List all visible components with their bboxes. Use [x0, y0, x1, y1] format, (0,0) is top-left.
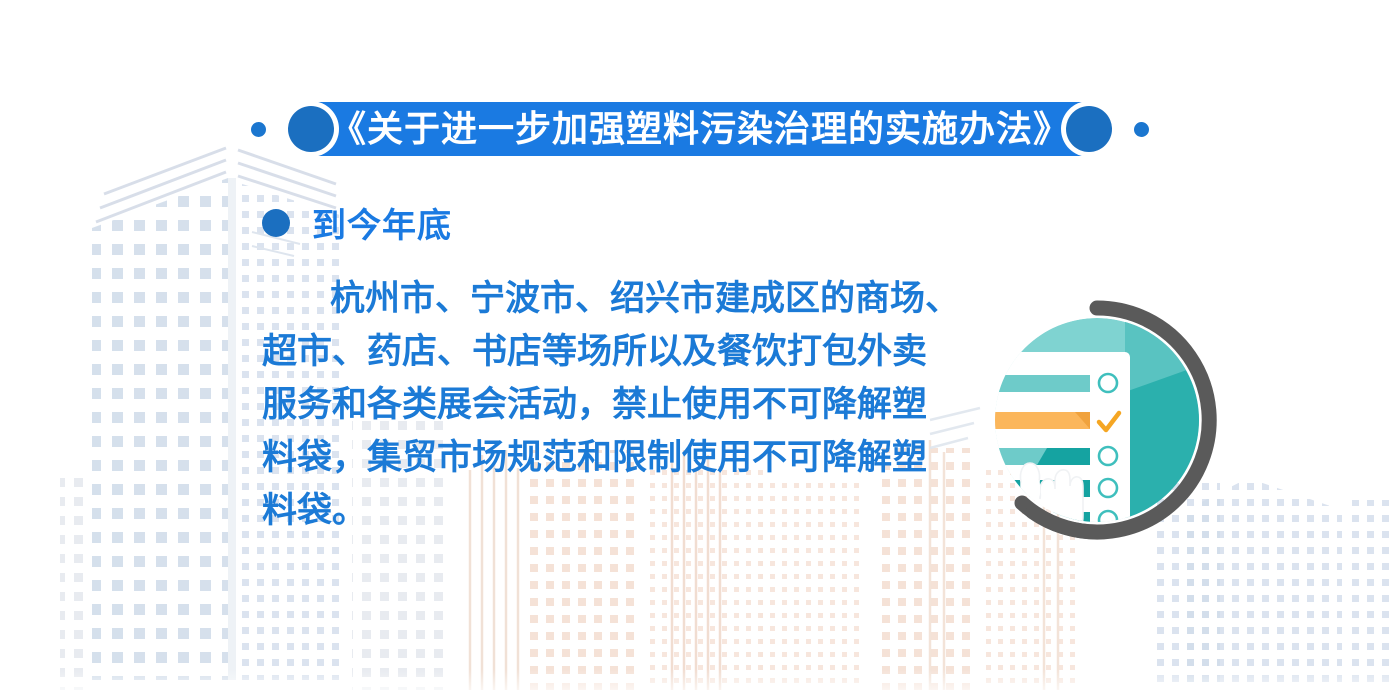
title-banner: 《关于进一步加强塑料污染治理的实施办法》: [314, 102, 1086, 156]
body-line-1: 杭州市、宁波市、绍兴市建成区的商场、: [262, 272, 972, 325]
bullet-dot-icon: [262, 209, 290, 237]
checklist-circle-illustration: [975, 300, 1220, 545]
decor-dot-large-right: [1066, 106, 1112, 152]
poster-canvas: 《关于进一步加强塑料污染治理的实施办法》 到今年底 杭州市、宁波市、绍兴市建成区…: [0, 0, 1400, 700]
body-line-3: 服务和各类展会活动，禁止使用不可降解塑: [262, 378, 972, 431]
body-paragraph: 杭州市、宁波市、绍兴市建成区的商场、 超市、药店、书店等场所以及餐饮打包外卖 服…: [262, 272, 972, 537]
body-line-2: 超市、药店、书店等场所以及餐饮打包外卖: [262, 325, 972, 378]
decor-dot-small-right: [1134, 122, 1149, 137]
checklist-bar-2: [985, 412, 1090, 429]
decor-dot-small-left: [251, 122, 266, 137]
title-row: 《关于进一步加强塑料污染治理的实施办法》: [0, 98, 1400, 160]
subtitle-text: 到今年底: [312, 198, 452, 247]
page-title: 《关于进一步加强塑料污染治理的实施办法》: [330, 102, 1070, 156]
checklist-bar-1: [993, 375, 1090, 392]
decor-dot-large-left: [288, 106, 334, 152]
subtitle-row: 到今年底: [262, 198, 452, 247]
body-line-5: 料袋。: [262, 484, 972, 537]
body-line-4: 料袋，集贸市场规范和限制使用不可降解塑: [262, 431, 972, 484]
